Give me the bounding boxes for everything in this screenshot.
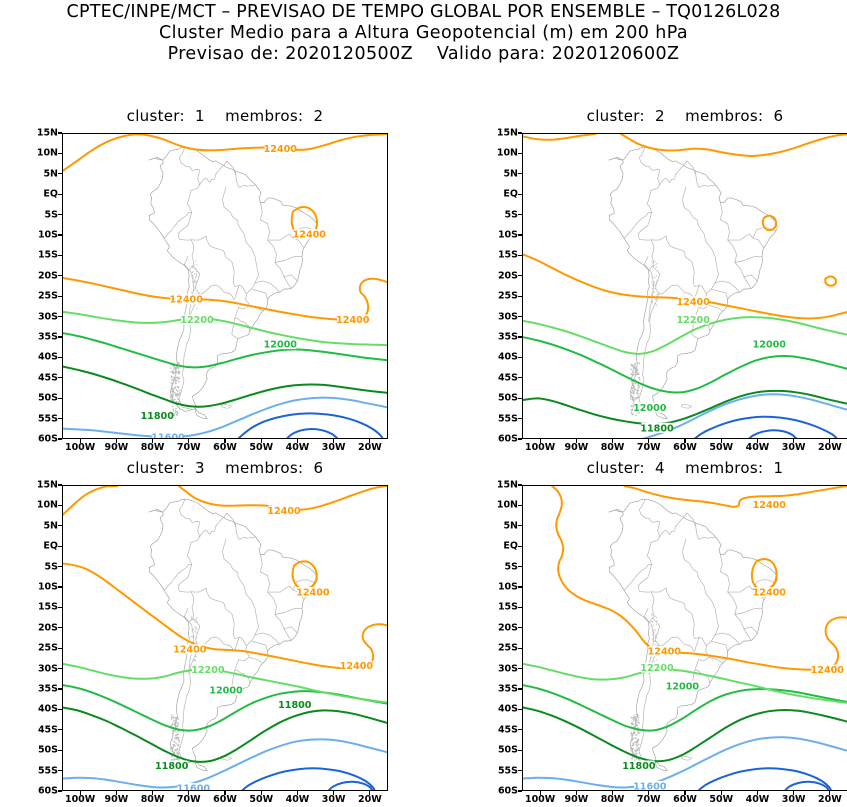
y-axis-tick: [518, 770, 522, 771]
y-axis-tick: [58, 234, 62, 235]
x-axis-label: 90W: [104, 442, 128, 453]
y-axis-label: 50S: [28, 745, 58, 756]
x-axis-label: 30W: [782, 442, 806, 453]
y-axis-tick: [518, 132, 522, 133]
y-axis-label: 15S: [488, 250, 518, 261]
y-axis-label: 30S: [28, 311, 58, 322]
x-axis-label: 90W: [104, 794, 128, 805]
svg-text:12400: 12400: [648, 647, 682, 658]
x-axis-tick: [333, 439, 334, 443]
x-axis-label: 30W: [322, 794, 346, 805]
y-axis-label: 55S: [28, 413, 58, 424]
y-axis-label: 5S: [28, 561, 58, 572]
svg-text:12400: 12400: [296, 588, 330, 599]
svg-text:11800: 11800: [155, 761, 189, 772]
y-axis-label: 60S: [488, 434, 518, 445]
x-axis-label: 30W: [782, 794, 806, 805]
svg-text:11600: 11600: [177, 783, 211, 791]
y-axis-tick: [518, 173, 522, 174]
y-axis-tick: [518, 627, 522, 628]
y-axis-label: 10N: [488, 148, 518, 159]
y-axis-label: 25S: [28, 291, 58, 302]
y-axis-tick: [518, 484, 522, 485]
y-axis-tick: [58, 484, 62, 485]
x-axis-tick: [757, 439, 758, 443]
x-axis-label: 20W: [818, 442, 842, 453]
x-axis-tick: [684, 439, 685, 443]
y-axis-label: 25S: [488, 643, 518, 654]
y-axis-label: 25S: [488, 291, 518, 302]
y-axis-tick: [58, 357, 62, 358]
y-axis-label: 35S: [28, 684, 58, 695]
y-axis-tick: [518, 275, 522, 276]
chart-panel-cluster-4: cluster: 4 membros: 1 124001240012400124…: [488, 459, 847, 807]
x-axis-label: 60W: [673, 442, 697, 453]
y-axis-tick: [58, 566, 62, 567]
x-axis-tick: [80, 439, 81, 443]
x-axis-label: 30W: [322, 442, 346, 453]
y-axis-label: 30S: [488, 663, 518, 674]
y-axis-label: 20S: [488, 270, 518, 281]
y-axis-label: 5N: [28, 520, 58, 531]
plot-area-4[interactable]: 1240012400124001240012200120001180011600: [522, 485, 847, 791]
y-axis-label: 35S: [488, 684, 518, 695]
x-axis-label: 60W: [213, 442, 237, 453]
y-axis-tick: [58, 275, 62, 276]
x-axis-tick: [261, 439, 262, 443]
svg-text:12200: 12200: [191, 665, 225, 676]
y-axis-label: 50S: [488, 745, 518, 756]
y-axis-label: 15S: [488, 602, 518, 613]
y-axis-label: 10S: [488, 582, 518, 593]
y-axis-tick: [518, 438, 522, 439]
y-axis-tick: [518, 546, 522, 547]
y-axis-tick: [58, 255, 62, 256]
y-axis-label: 25S: [28, 643, 58, 654]
y-axis-tick: [518, 586, 522, 587]
x-axis-label: 70W: [177, 794, 201, 805]
x-axis-tick: [757, 791, 758, 795]
y-axis-label: 30S: [28, 663, 58, 674]
svg-text:12400: 12400: [170, 295, 204, 306]
x-axis-label: 80W: [141, 442, 165, 453]
y-axis-tick: [58, 525, 62, 526]
svg-text:11600: 11600: [633, 781, 667, 791]
svg-text:12200: 12200: [677, 315, 711, 326]
y-axis-label: EQ: [488, 541, 518, 552]
svg-text:12000: 12000: [753, 340, 787, 351]
y-axis-tick: [58, 729, 62, 730]
svg-text:12200: 12200: [180, 315, 214, 326]
svg-text:12400: 12400: [753, 500, 787, 511]
x-axis-label: 50W: [709, 442, 733, 453]
y-axis-tick: [518, 336, 522, 337]
y-axis-label: 45S: [28, 372, 58, 383]
x-axis-tick: [297, 791, 298, 795]
x-axis-tick: [152, 791, 153, 795]
y-axis-label: 15N: [488, 480, 518, 491]
y-axis-label: 5N: [28, 168, 58, 179]
x-axis-label: 60W: [673, 794, 697, 805]
y-axis-tick: [58, 438, 62, 439]
y-axis-label: EQ: [488, 189, 518, 200]
y-axis-label: 45S: [28, 724, 58, 735]
svg-text:12400: 12400: [811, 665, 845, 676]
y-axis-tick: [518, 316, 522, 317]
y-axis-label: 40S: [28, 704, 58, 715]
y-axis-label: 15S: [28, 602, 58, 613]
svg-text:11800: 11800: [141, 411, 175, 422]
y-axis-tick: [518, 505, 522, 506]
x-axis-label: 80W: [601, 442, 625, 453]
y-axis-tick: [518, 668, 522, 669]
x-axis-tick: [152, 439, 153, 443]
page-title: CPTEC/INPE/MCT – PREVISAO DE TEMPO GLOBA…: [0, 2, 847, 65]
x-axis-tick: [829, 439, 830, 443]
x-axis-label: 100W: [65, 794, 95, 805]
y-axis-tick: [58, 607, 62, 608]
y-axis-tick: [58, 586, 62, 587]
y-axis-label: 60S: [488, 786, 518, 797]
x-axis-tick: [829, 791, 830, 795]
x-axis-tick: [80, 791, 81, 795]
y-axis-tick: [58, 377, 62, 378]
y-axis-label: 10S: [488, 230, 518, 241]
x-axis-tick: [224, 791, 225, 795]
y-axis-tick: [518, 153, 522, 154]
x-axis-label: 80W: [141, 794, 165, 805]
x-axis-label: 90W: [564, 442, 588, 453]
x-axis-label: 70W: [637, 794, 661, 805]
svg-text:11800: 11800: [640, 423, 674, 434]
x-axis-tick: [116, 439, 117, 443]
x-axis-tick: [721, 791, 722, 795]
y-axis-label: 5S: [488, 561, 518, 572]
x-axis-tick: [648, 791, 649, 795]
x-axis-tick: [540, 791, 541, 795]
y-axis-label: 50S: [488, 393, 518, 404]
y-axis-label: 10N: [28, 148, 58, 159]
y-axis-label: 50S: [28, 393, 58, 404]
y-axis-tick: [518, 566, 522, 567]
y-axis-label: 5S: [28, 209, 58, 220]
y-axis-label: 55S: [28, 765, 58, 776]
plot-area-3[interactable]: 1240012400124001240012200120001180011800…: [62, 485, 388, 791]
x-axis-tick: [116, 791, 117, 795]
y-axis-tick: [58, 398, 62, 399]
x-axis-tick: [576, 439, 577, 443]
y-axis-label: 35S: [28, 332, 58, 343]
y-axis-tick: [58, 709, 62, 710]
x-axis-label: 50W: [249, 794, 273, 805]
y-axis-tick: [518, 357, 522, 358]
y-axis-label: 35S: [488, 332, 518, 343]
svg-text:12400: 12400: [173, 645, 207, 656]
y-axis-label: 15S: [28, 250, 58, 261]
y-axis-tick: [58, 505, 62, 506]
y-axis-label: 15N: [488, 128, 518, 139]
x-axis-tick: [793, 439, 794, 443]
x-axis-tick: [540, 439, 541, 443]
svg-text:12400: 12400: [293, 230, 327, 241]
y-axis-tick: [58, 194, 62, 195]
y-axis-tick: [58, 627, 62, 628]
x-axis-label: 60W: [213, 794, 237, 805]
svg-text:12000: 12000: [209, 686, 243, 697]
y-axis-tick: [518, 688, 522, 689]
y-axis-tick: [518, 234, 522, 235]
y-axis-tick: [518, 525, 522, 526]
svg-text:11800: 11800: [278, 700, 312, 711]
x-axis-label: 20W: [358, 794, 382, 805]
y-axis-tick: [518, 750, 522, 751]
x-axis-label: 100W: [525, 794, 555, 805]
x-axis-label: 20W: [358, 442, 382, 453]
panel-title-2: cluster: 2 membros: 6: [522, 107, 847, 125]
y-axis-tick: [518, 214, 522, 215]
y-axis-label: 55S: [488, 413, 518, 424]
y-axis-label: 20S: [488, 622, 518, 633]
x-axis-tick: [188, 791, 189, 795]
y-axis-label: 40S: [488, 704, 518, 715]
x-axis-tick: [297, 439, 298, 443]
x-axis-tick: [369, 791, 370, 795]
x-axis-label: 70W: [637, 442, 661, 453]
x-axis-tick: [576, 791, 577, 795]
panel-title-3: cluster: 3 membros: 6: [62, 459, 388, 477]
y-axis-label: 5N: [488, 168, 518, 179]
y-axis-label: 30S: [488, 311, 518, 322]
x-axis-label: 40W: [746, 794, 770, 805]
y-axis-tick: [518, 377, 522, 378]
y-axis-tick: [58, 214, 62, 215]
x-axis-label: 70W: [177, 442, 201, 453]
y-axis-label: 60S: [28, 786, 58, 797]
y-axis-tick: [58, 418, 62, 419]
svg-text:12000: 12000: [633, 403, 667, 414]
svg-text:12400: 12400: [336, 315, 370, 326]
y-axis-tick: [58, 750, 62, 751]
y-axis-label: 10N: [28, 500, 58, 511]
x-axis-tick: [793, 791, 794, 795]
y-axis-label: 60S: [28, 434, 58, 445]
x-axis-tick: [224, 439, 225, 443]
x-axis-tick: [333, 791, 334, 795]
y-axis-tick: [58, 770, 62, 771]
chart-panel-cluster-1: cluster: 1 membros: 2 124001240012400124…: [28, 107, 390, 455]
y-axis-tick: [518, 790, 522, 791]
y-axis-tick: [58, 173, 62, 174]
x-axis-tick: [369, 439, 370, 443]
y-axis-tick: [518, 255, 522, 256]
y-axis-label: 10S: [28, 582, 58, 593]
x-axis-label: 100W: [65, 442, 95, 453]
svg-text:11800: 11800: [622, 761, 656, 772]
plot-area-1[interactable]: 1240012400124001240012200120001180011600: [62, 133, 388, 439]
y-axis-label: 45S: [488, 372, 518, 383]
panel-title-1: cluster: 1 membros: 2: [62, 107, 388, 125]
x-axis-label: 40W: [286, 794, 310, 805]
y-axis-tick: [518, 194, 522, 195]
y-axis-tick: [58, 296, 62, 297]
y-axis-tick: [58, 336, 62, 337]
svg-text:11600: 11600: [151, 433, 185, 439]
x-axis-label: 50W: [249, 442, 273, 453]
title-line-2: Cluster Medio para a Altura Geopotencial…: [0, 23, 847, 44]
svg-text:12400: 12400: [267, 506, 301, 517]
y-axis-tick: [58, 668, 62, 669]
y-axis-tick: [518, 398, 522, 399]
y-axis-label: 55S: [488, 765, 518, 776]
x-axis-label: 50W: [709, 794, 733, 805]
y-axis-tick: [58, 790, 62, 791]
x-axis-label: 40W: [286, 442, 310, 453]
y-axis-tick: [518, 648, 522, 649]
y-axis-label: 10S: [28, 230, 58, 241]
x-axis-tick: [612, 439, 613, 443]
svg-text:12000: 12000: [264, 340, 298, 351]
panel-title-4: cluster: 4 membros: 1: [522, 459, 847, 477]
y-axis-label: EQ: [28, 189, 58, 200]
y-axis-label: 5S: [488, 209, 518, 220]
chart-panel-cluster-3: cluster: 3 membros: 6 124001240012400124…: [28, 459, 390, 807]
y-axis-tick: [518, 729, 522, 730]
y-axis-tick: [518, 709, 522, 710]
y-axis-label: 10N: [488, 500, 518, 511]
y-axis-label: 20S: [28, 622, 58, 633]
y-axis-tick: [518, 296, 522, 297]
title-line-3: Previsao de: 2020120500Z Valido para: 20…: [0, 44, 847, 65]
y-axis-label: EQ: [28, 541, 58, 552]
svg-text:12400: 12400: [340, 661, 374, 672]
x-axis-label: 20W: [818, 794, 842, 805]
svg-text:12200: 12200: [640, 663, 674, 674]
y-axis-label: 15N: [28, 480, 58, 491]
y-axis-tick: [58, 546, 62, 547]
plot-area-2[interactable]: 1240012200120001200011800: [522, 133, 847, 439]
x-axis-tick: [188, 439, 189, 443]
x-axis-tick: [612, 791, 613, 795]
x-axis-label: 40W: [746, 442, 770, 453]
y-axis-tick: [58, 648, 62, 649]
y-axis-tick: [58, 688, 62, 689]
y-axis-tick: [518, 418, 522, 419]
y-axis-label: 5N: [488, 520, 518, 531]
x-axis-tick: [684, 791, 685, 795]
y-axis-label: 45S: [488, 724, 518, 735]
y-axis-tick: [518, 607, 522, 608]
x-axis-label: 90W: [564, 794, 588, 805]
y-axis-tick: [58, 132, 62, 133]
x-axis-label: 80W: [601, 794, 625, 805]
x-axis-tick: [721, 439, 722, 443]
svg-text:12400: 12400: [264, 144, 298, 155]
y-axis-label: 15N: [28, 128, 58, 139]
svg-text:12000: 12000: [666, 681, 700, 692]
y-axis-label: 40S: [28, 352, 58, 363]
chart-panel-cluster-2: cluster: 2 membros: 6 124001220012000120…: [488, 107, 847, 455]
x-axis-tick: [648, 439, 649, 443]
y-axis-tick: [58, 316, 62, 317]
svg-text:12400: 12400: [677, 297, 711, 308]
svg-text:12400: 12400: [753, 588, 787, 599]
y-axis-label: 20S: [28, 270, 58, 281]
x-axis-tick: [261, 791, 262, 795]
title-line-1: CPTEC/INPE/MCT – PREVISAO DE TEMPO GLOBA…: [0, 2, 847, 23]
x-axis-label: 100W: [525, 442, 555, 453]
y-axis-label: 40S: [488, 352, 518, 363]
y-axis-tick: [58, 153, 62, 154]
